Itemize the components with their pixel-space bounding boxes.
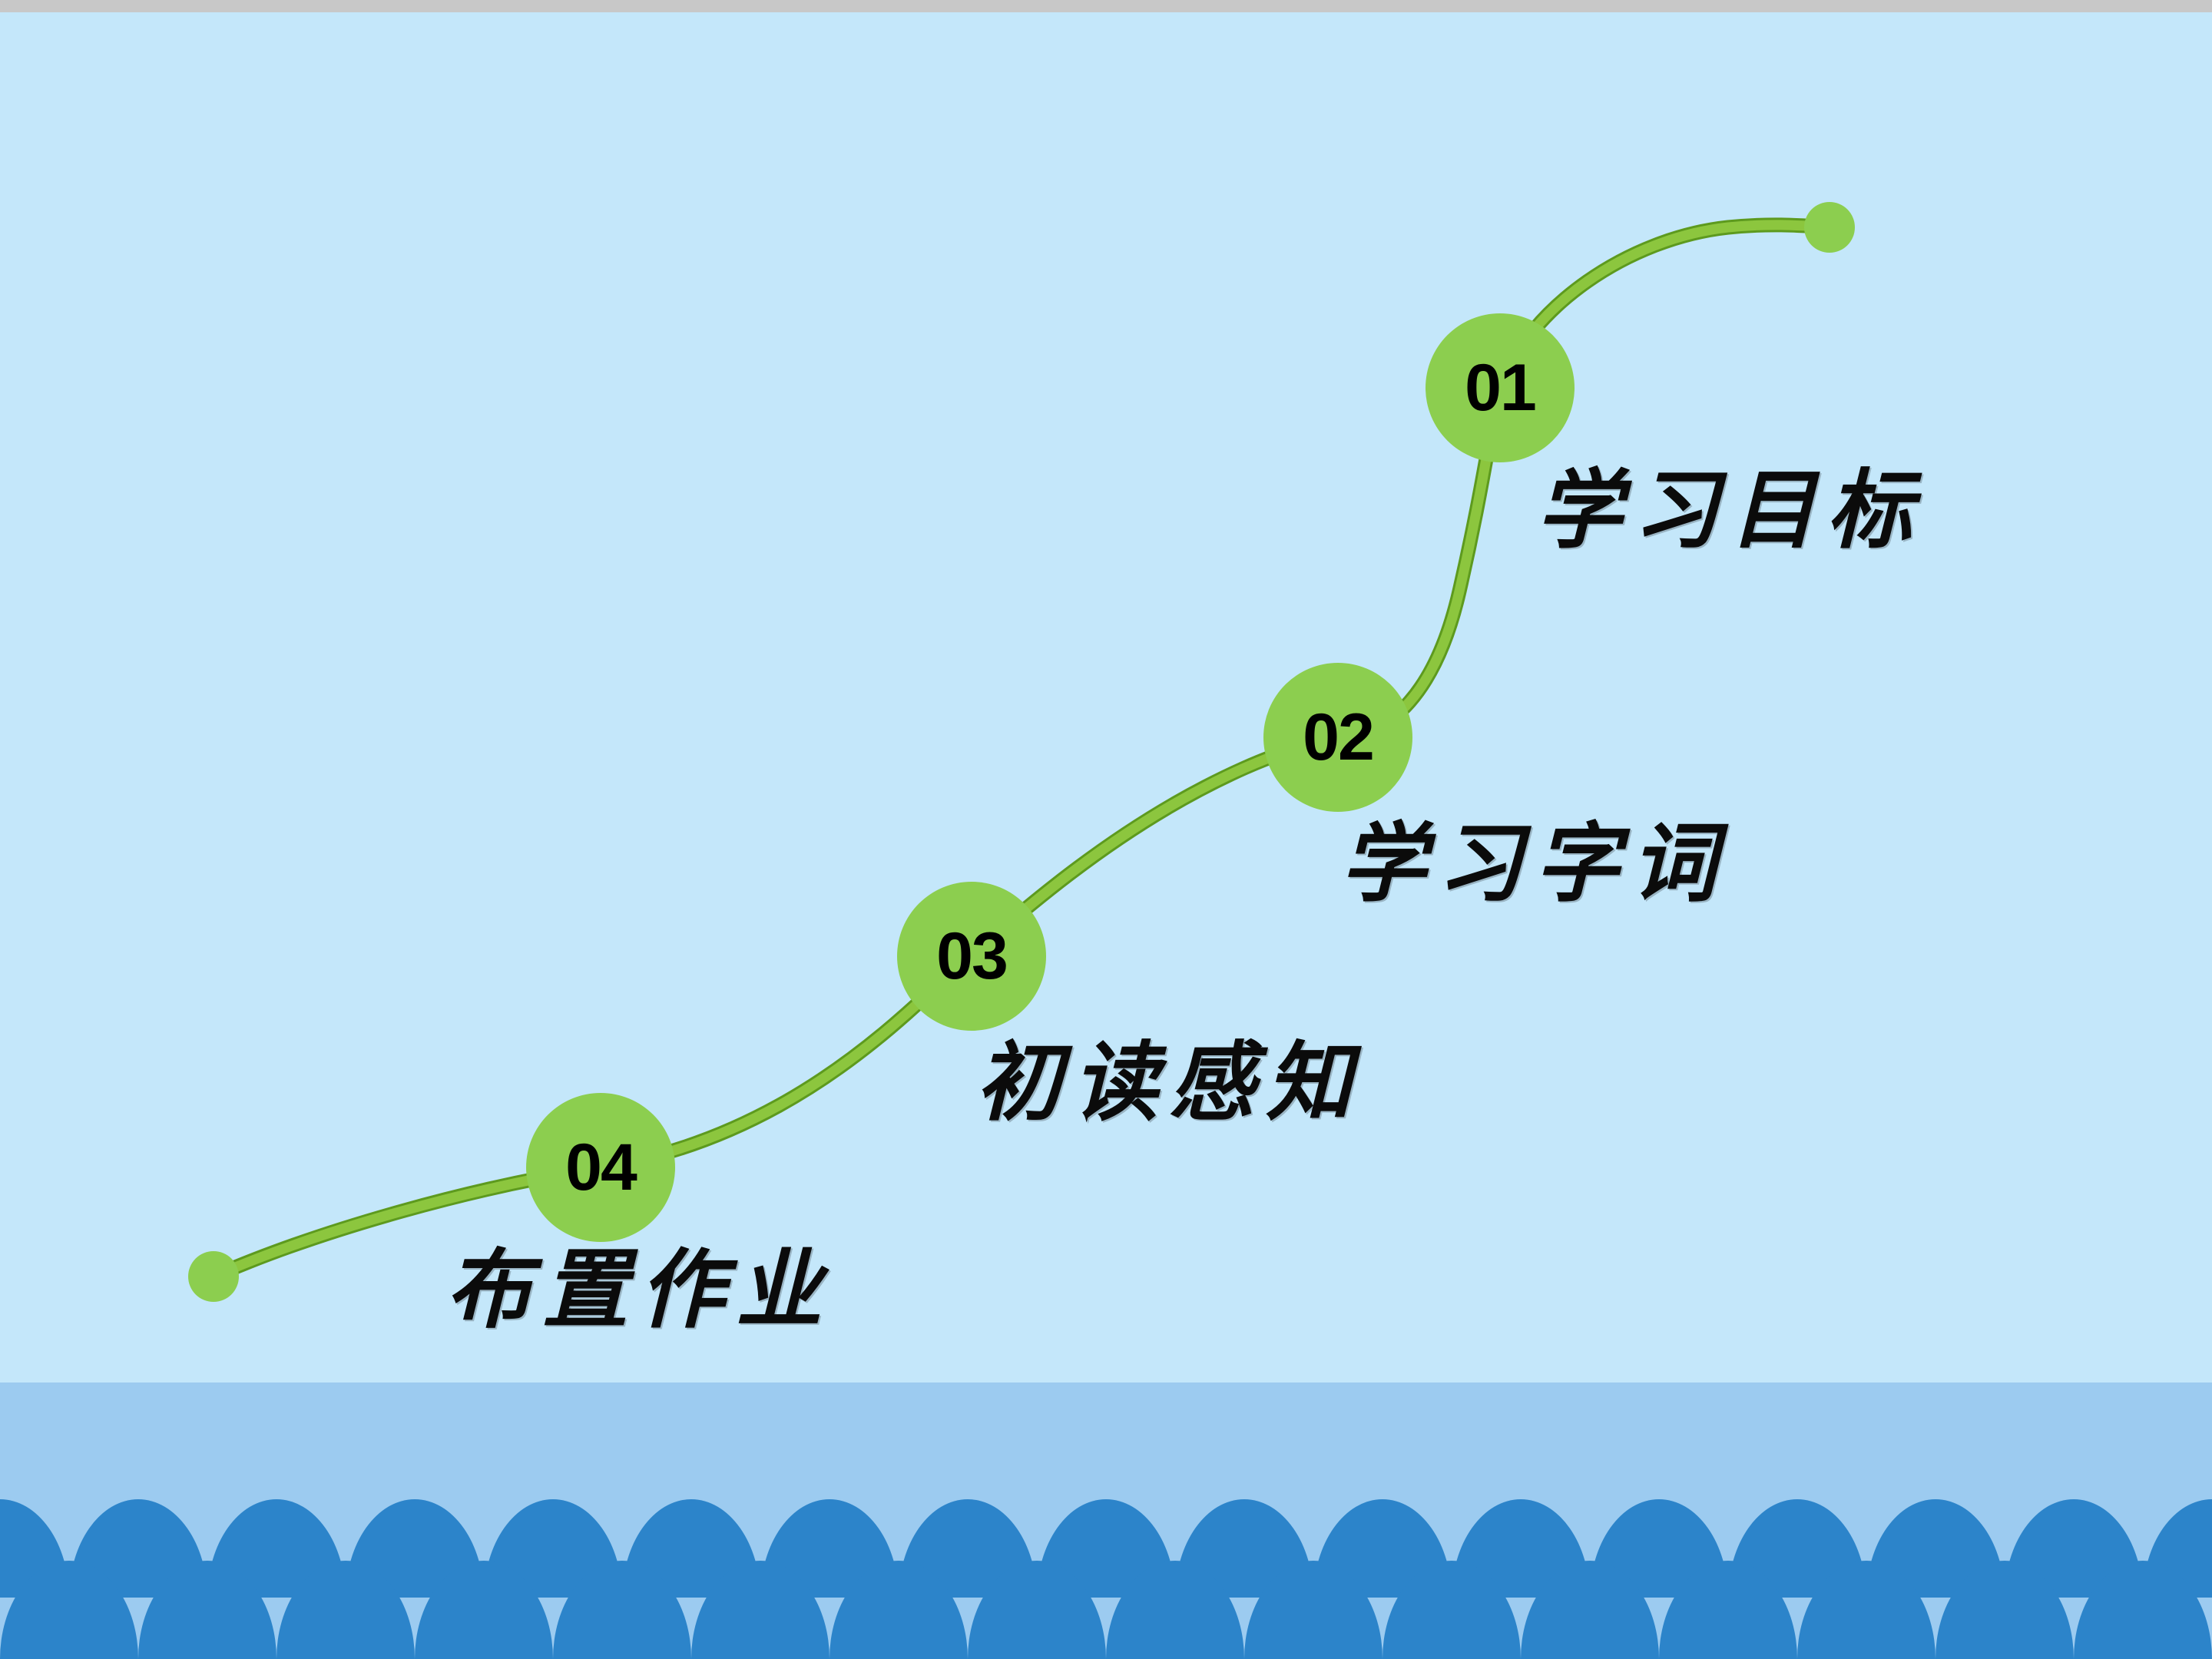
step-label-04: 布置作业: [445, 1248, 833, 1334]
step-node-number-04: 04: [565, 1131, 637, 1204]
step-label-01: 学习目标: [1536, 469, 1923, 555]
step-node-03[interactable]: 03: [897, 882, 1046, 1031]
step-node-02[interactable]: 02: [1263, 663, 1412, 812]
step-node-number-03: 03: [936, 919, 1007, 993]
step-node-number-01: 01: [1465, 351, 1535, 425]
step-label-03: 初读感知: [975, 1041, 1363, 1127]
step-node-04[interactable]: 04: [526, 1093, 675, 1242]
roadmap-artwork: 01020304: [0, 0, 2212, 1659]
step-label-02: 学习字词: [1340, 822, 1727, 908]
path-end-dot-top-right: [1804, 202, 1855, 253]
step-node-01[interactable]: 01: [1426, 313, 1575, 462]
path-endpoint-dots: [188, 202, 1855, 1302]
path-end-dot-bottom-left: [188, 1251, 239, 1302]
slide-canvas: 01020304 学习目标学习字词初读感知布置作业: [0, 0, 2212, 1659]
step-node-number-02: 02: [1303, 700, 1373, 774]
